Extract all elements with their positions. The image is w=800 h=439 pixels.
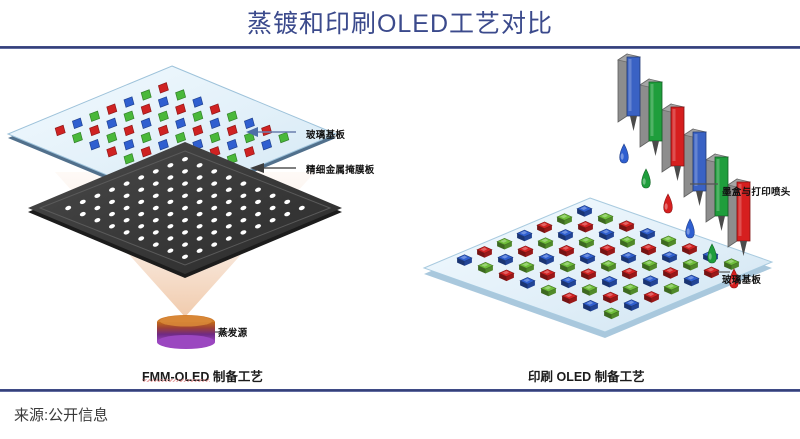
ink-droplet [620, 144, 629, 163]
ink-droplet [642, 169, 651, 188]
label-evaporation-source: 蒸发源 [218, 325, 247, 339]
source-note: 来源:公开信息 [14, 404, 108, 425]
ink-droplet [664, 194, 673, 213]
label-fine-metal-mask: 精细金属掩膜板 [306, 162, 375, 176]
printhead-cartridge [640, 79, 662, 156]
caption-fmm-oled: FMM-OLED 制备工艺 [142, 366, 263, 385]
label-glass-substrate-left: 玻璃基板 [306, 127, 345, 141]
label-glass-substrate-right: 玻璃基板 [722, 272, 761, 286]
footer-divider [0, 389, 800, 392]
label-ink-cartridge-printhead: 墨盒与打印喷头 [722, 184, 791, 198]
slide-canvas: 蒸镀和印刷OLED工艺对比 [0, 0, 800, 439]
evaporation-source [157, 315, 215, 349]
spellcheck-underline [142, 379, 210, 382]
page-title: 蒸镀和印刷OLED工艺对比 [0, 4, 800, 40]
printhead-cartridge [662, 104, 684, 181]
caption-printed-oled: 印刷 OLED 制备工艺 [528, 366, 645, 385]
printed-oled-svg [400, 52, 800, 372]
header-divider [0, 46, 800, 49]
printhead-cartridge [684, 129, 706, 206]
fmm-oled-svg [0, 52, 350, 372]
fmm-oled-diagram [0, 52, 350, 372]
ink-droplet [686, 219, 695, 238]
printhead-cartridge [618, 54, 640, 131]
printed-oled-diagram [400, 52, 800, 372]
